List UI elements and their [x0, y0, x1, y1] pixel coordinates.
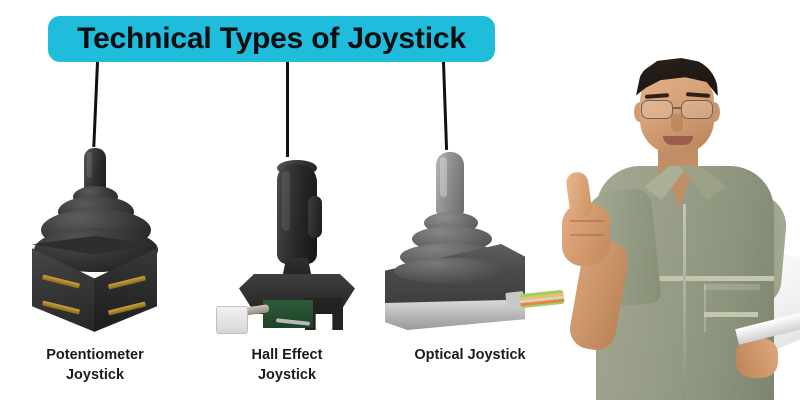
mouth: [663, 136, 693, 145]
joystick-knob: [436, 152, 464, 216]
nose: [671, 114, 683, 132]
caption-line-2: Joystick: [212, 365, 362, 385]
lens-right: [681, 100, 713, 119]
caption-line-1: Hall Effect: [212, 345, 362, 365]
right-hand: [736, 338, 778, 378]
knuckle-line-2: [570, 234, 604, 236]
caption-optical-joystick: Optical Joystick: [395, 345, 545, 365]
technician-photo: [540, 44, 800, 400]
pocket-stripe: [704, 312, 758, 317]
caption-line-2: Joystick: [20, 365, 170, 385]
joystick-base-plate: [385, 300, 525, 330]
caption-hall-effect-joystick: Hall Effect Joystick: [212, 345, 362, 385]
knuckle-line-1: [570, 220, 604, 222]
caption-line-1: Optical Joystick: [395, 345, 545, 365]
joystick-boot-1: [394, 258, 510, 284]
lens-left: [641, 100, 673, 119]
caption-line-1: Potentiometer: [20, 345, 170, 365]
caption-potentiometer-joystick: Potentiometer Joystick: [20, 345, 170, 385]
shirt-zipper: [683, 204, 686, 400]
product-image-optical-joystick: [0, 0, 570, 340]
infographic-canvas: Technical Types of Joystick Potentiomete…: [0, 0, 800, 400]
